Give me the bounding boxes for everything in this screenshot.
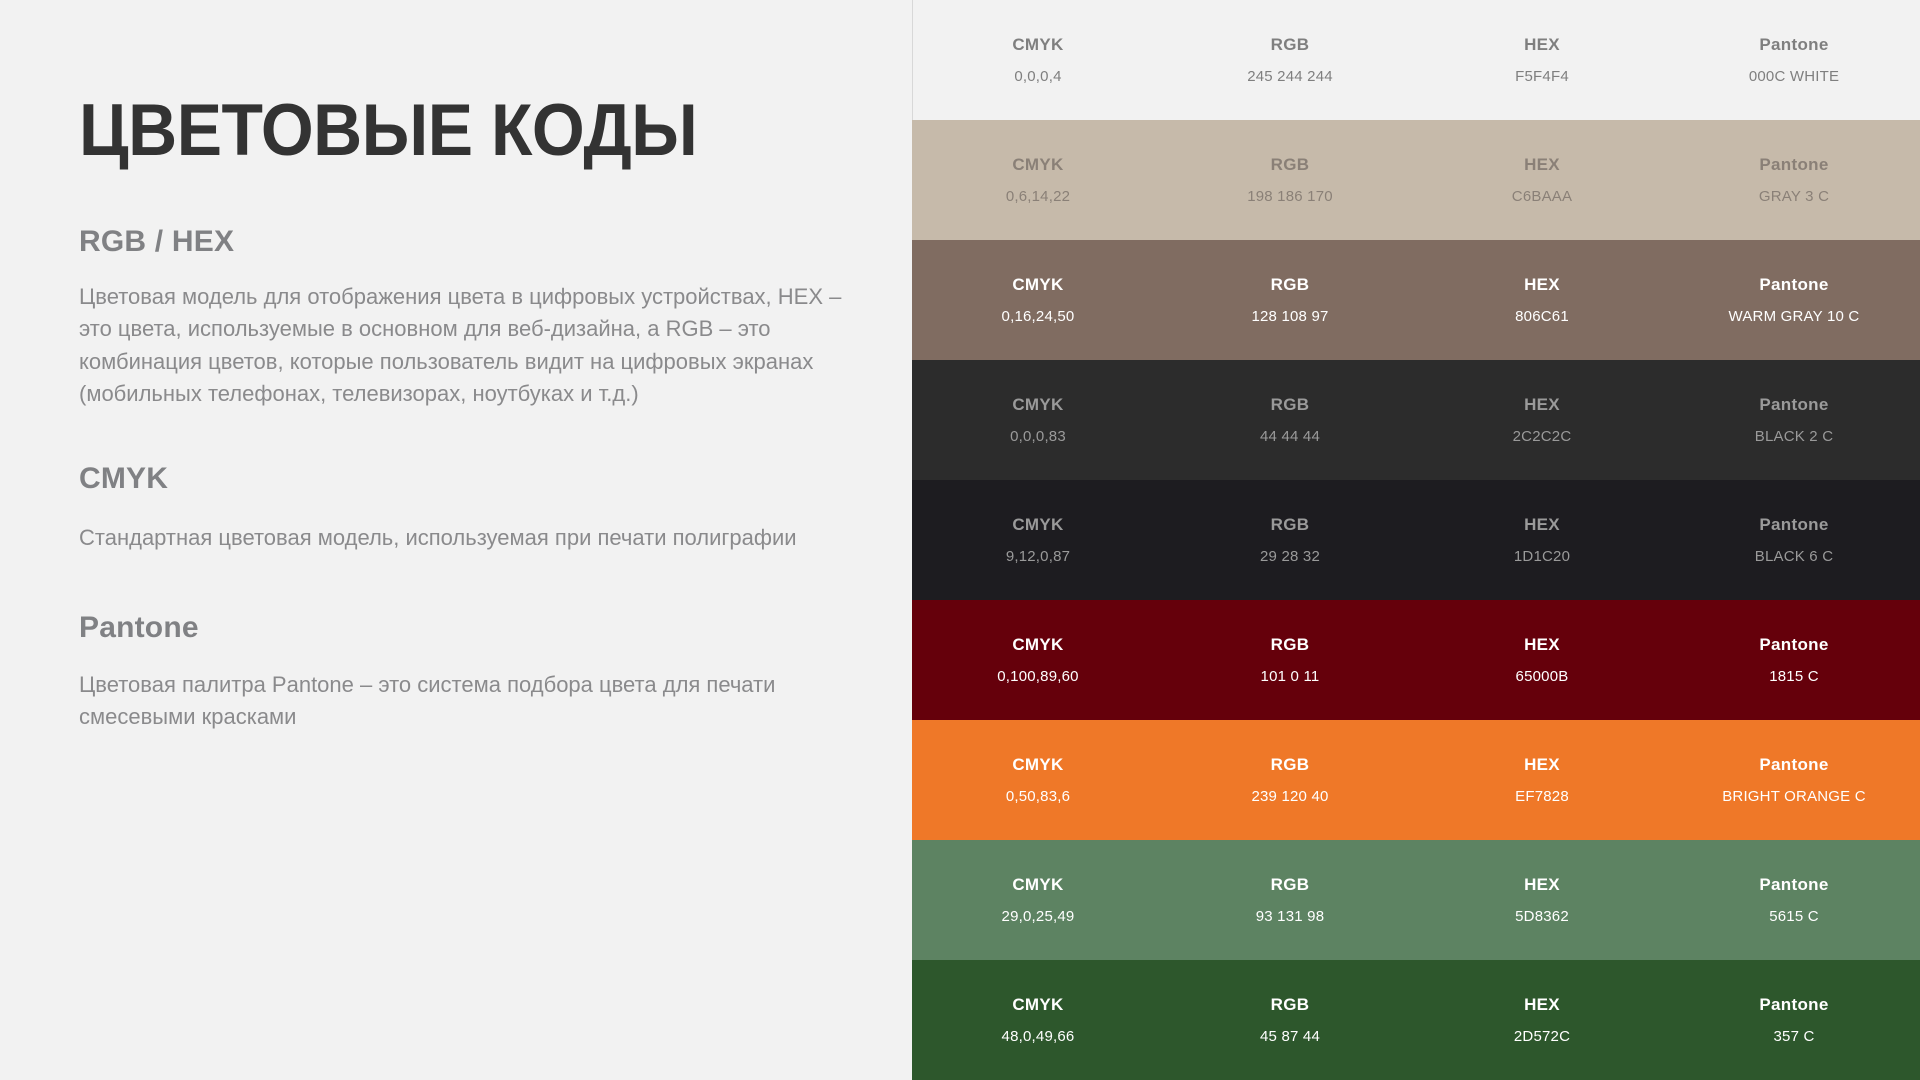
swatch-cell-cmyk: CMYK48,0,49,66: [912, 996, 1164, 1044]
swatch-cell-pantone: PantoneBLACK 2 C: [1668, 396, 1920, 444]
swatch-cell-rgb: RGB245 244 244: [1164, 36, 1416, 84]
section-heading-rgb-hex: RGB / HEX: [79, 225, 912, 259]
swatch-cell-value: 0,100,89,60: [912, 669, 1164, 684]
swatch-cell-value: 2C2C2C: [1416, 429, 1668, 444]
swatch-cell-label: Pantone: [1668, 156, 1920, 173]
swatch-cell-value: 65000B: [1416, 669, 1668, 684]
swatch-cell-cmyk: CMYK0,0,0,83: [912, 396, 1164, 444]
swatch-cell-label: Pantone: [1668, 876, 1920, 893]
swatch-cell-value: 45 87 44: [1164, 1029, 1416, 1044]
swatch-cell-label: HEX: [1416, 636, 1668, 653]
swatch-cell-pantone: PantoneWARM GRAY 10 C: [1668, 276, 1920, 324]
swatch-row: CMYK48,0,49,66RGB45 87 44HEX2D572CPanton…: [912, 960, 1920, 1080]
swatch-cell-value: C6BAAA: [1416, 189, 1668, 204]
swatch-cell-pantone: Pantone357 C: [1668, 996, 1920, 1044]
swatch-cell-pantone: Pantone1815 C: [1668, 636, 1920, 684]
swatch-cell-value: 29 28 32: [1164, 549, 1416, 564]
swatch-cell-label: RGB: [1164, 156, 1416, 173]
swatch-cell-label: CMYK: [912, 636, 1164, 653]
swatch-cell-cmyk: CMYK0,0,0,4: [912, 36, 1164, 84]
swatch-cell-hex: HEX2D572C: [1416, 996, 1668, 1044]
swatch-cell-label: CMYK: [912, 36, 1164, 53]
swatch-cell-value: 48,0,49,66: [912, 1029, 1164, 1044]
swatch-cell-pantone: PantoneBRIGHT ORANGE C: [1668, 756, 1920, 804]
swatch-cell-label: RGB: [1164, 276, 1416, 293]
swatch-row: CMYK0,100,89,60RGB101 0 11HEX65000BPanto…: [912, 600, 1920, 720]
swatch-cell-cmyk: CMYK0,16,24,50: [912, 276, 1164, 324]
swatch-cell-label: HEX: [1416, 756, 1668, 773]
swatch-row: CMYK29,0,25,49RGB93 131 98HEX5D8362Panto…: [912, 840, 1920, 960]
swatch-cell-rgb: RGB44 44 44: [1164, 396, 1416, 444]
swatch-cell-value: 239 120 40: [1164, 789, 1416, 804]
swatch-cell-cmyk: CMYK9,12,0,87: [912, 516, 1164, 564]
swatch-row: CMYK0,16,24,50RGB128 108 97HEX806C61Pant…: [912, 240, 1920, 360]
left-info-panel: ЦВЕТОВЫЕ КОДЫ RGB / HEX Цветовая модель …: [0, 0, 912, 1080]
section-rgb-hex: RGB / HEX Цветовая модель для отображени…: [79, 225, 912, 410]
swatch-cell-label: HEX: [1416, 516, 1668, 533]
swatch-cell-cmyk: CMYK0,50,83,6: [912, 756, 1164, 804]
swatch-row: CMYK0,0,0,4RGB245 244 244HEXF5F4F4Panton…: [912, 0, 1920, 120]
swatch-cell-value: 0,0,0,83: [912, 429, 1164, 444]
swatch-cell-rgb: RGB29 28 32: [1164, 516, 1416, 564]
swatch-cell-label: CMYK: [912, 276, 1164, 293]
swatch-cell-value: 2D572C: [1416, 1029, 1668, 1044]
swatch-cell-label: HEX: [1416, 396, 1668, 413]
swatch-cell-label: Pantone: [1668, 756, 1920, 773]
swatch-cell-value: 1815 C: [1668, 669, 1920, 684]
swatch-cell-value: F5F4F4: [1416, 69, 1668, 84]
swatch-cell-value: 0,6,14,22: [912, 189, 1164, 204]
swatch-cell-value: 245 244 244: [1164, 69, 1416, 84]
swatch-cell-label: RGB: [1164, 636, 1416, 653]
swatch-cell-value: 198 186 170: [1164, 189, 1416, 204]
swatch-cell-value: 128 108 97: [1164, 309, 1416, 324]
swatch-cell-value: EF7828: [1416, 789, 1668, 804]
swatch-cell-label: Pantone: [1668, 276, 1920, 293]
swatch-cell-label: Pantone: [1668, 36, 1920, 53]
swatch-cell-rgb: RGB93 131 98: [1164, 876, 1416, 924]
swatch-cell-label: CMYK: [912, 396, 1164, 413]
swatch-cell-value: 806C61: [1416, 309, 1668, 324]
swatch-cell-value: 5615 C: [1668, 909, 1920, 924]
swatch-cell-label: HEX: [1416, 156, 1668, 173]
swatch-cell-label: HEX: [1416, 996, 1668, 1013]
swatch-cell-hex: HEXEF7828: [1416, 756, 1668, 804]
swatch-cell-label: RGB: [1164, 36, 1416, 53]
swatch-cell-label: CMYK: [912, 756, 1164, 773]
swatch-cell-value: 101 0 11: [1164, 669, 1416, 684]
swatch-cell-hex: HEX806C61: [1416, 276, 1668, 324]
color-codes-page: ЦВЕТОВЫЕ КОДЫ RGB / HEX Цветовая модель …: [0, 0, 1920, 1080]
panel-divider: [912, 0, 913, 120]
swatch-row: CMYK9,12,0,87RGB29 28 32HEX1D1C20Pantone…: [912, 480, 1920, 600]
swatch-cell-label: RGB: [1164, 516, 1416, 533]
swatch-cell-value: GRAY 3 C: [1668, 189, 1920, 204]
swatch-cell-value: 0,50,83,6: [912, 789, 1164, 804]
swatch-cell-value: BLACK 2 C: [1668, 429, 1920, 444]
swatch-cell-label: HEX: [1416, 276, 1668, 293]
swatch-cell-value: 000C WHITE: [1668, 69, 1920, 84]
swatch-cell-hex: HEX65000B: [1416, 636, 1668, 684]
swatch-cell-value: 29,0,25,49: [912, 909, 1164, 924]
swatch-row: CMYK0,0,0,83RGB44 44 44HEX2C2C2CPantoneB…: [912, 360, 1920, 480]
swatch-cell-value: 0,0,0,4: [912, 69, 1164, 84]
swatch-cell-value: BLACK 6 C: [1668, 549, 1920, 564]
swatch-cell-hex: HEX5D8362: [1416, 876, 1668, 924]
section-body-cmyk: Стандартная цветовая модель, используема…: [79, 522, 869, 554]
swatch-row: CMYK0,6,14,22RGB198 186 170HEXC6BAAAPant…: [912, 120, 1920, 240]
swatch-cell-hex: HEX2C2C2C: [1416, 396, 1668, 444]
swatch-cell-label: Pantone: [1668, 636, 1920, 653]
swatch-cell-label: RGB: [1164, 876, 1416, 893]
swatch-cell-label: RGB: [1164, 756, 1416, 773]
swatch-cell-label: Pantone: [1668, 996, 1920, 1013]
swatch-cell-label: CMYK: [912, 156, 1164, 173]
swatch-cell-value: 1D1C20: [1416, 549, 1668, 564]
swatch-cell-value: WARM GRAY 10 C: [1668, 309, 1920, 324]
section-heading-pantone: Pantone: [79, 611, 912, 645]
swatch-cell-hex: HEX1D1C20: [1416, 516, 1668, 564]
swatch-cell-value: 93 131 98: [1164, 909, 1416, 924]
swatch-cell-value: BRIGHT ORANGE C: [1668, 789, 1920, 804]
swatch-cell-label: HEX: [1416, 876, 1668, 893]
swatch-cell-hex: HEXC6BAAA: [1416, 156, 1668, 204]
swatch-cell-cmyk: CMYK0,100,89,60: [912, 636, 1164, 684]
section-cmyk: CMYK Стандартная цветовая модель, исполь…: [79, 462, 912, 554]
page-title: ЦВЕТОВЫЕ КОДЫ: [79, 94, 854, 167]
swatch-cell-pantone: PantoneGRAY 3 C: [1668, 156, 1920, 204]
swatch-cell-label: RGB: [1164, 996, 1416, 1013]
swatch-cell-value: 357 C: [1668, 1029, 1920, 1044]
section-body-rgb-hex: Цветовая модель для отображения цвета в …: [79, 281, 869, 410]
swatch-cell-pantone: Pantone000C WHITE: [1668, 36, 1920, 84]
section-pantone: Pantone Цветовая палитра Pantone – это с…: [79, 611, 912, 734]
swatch-cell-label: RGB: [1164, 396, 1416, 413]
swatch-cell-value: 0,16,24,50: [912, 309, 1164, 324]
swatch-cell-rgb: RGB128 108 97: [1164, 276, 1416, 324]
swatch-cell-value: 5D8362: [1416, 909, 1668, 924]
swatch-cell-rgb: RGB101 0 11: [1164, 636, 1416, 684]
swatch-cell-label: CMYK: [912, 516, 1164, 533]
section-body-pantone: Цветовая палитра Pantone – это система п…: [79, 669, 869, 734]
color-swatch-table: CMYK0,0,0,4RGB245 244 244HEXF5F4F4Panton…: [912, 0, 1920, 1080]
swatch-cell-label: CMYK: [912, 876, 1164, 893]
swatch-cell-label: Pantone: [1668, 396, 1920, 413]
swatch-row: CMYK0,50,83,6RGB239 120 40HEXEF7828Panto…: [912, 720, 1920, 840]
swatch-cell-hex: HEXF5F4F4: [1416, 36, 1668, 84]
swatch-cell-pantone: PantoneBLACK 6 C: [1668, 516, 1920, 564]
swatch-cell-value: 44 44 44: [1164, 429, 1416, 444]
swatch-cell-label: HEX: [1416, 36, 1668, 53]
swatch-cell-rgb: RGB45 87 44: [1164, 996, 1416, 1044]
swatch-cell-cmyk: CMYK0,6,14,22: [912, 156, 1164, 204]
swatch-cell-rgb: RGB239 120 40: [1164, 756, 1416, 804]
swatch-cell-pantone: Pantone5615 C: [1668, 876, 1920, 924]
swatch-cell-rgb: RGB198 186 170: [1164, 156, 1416, 204]
swatch-cell-label: Pantone: [1668, 516, 1920, 533]
swatch-cell-value: 9,12,0,87: [912, 549, 1164, 564]
swatch-cell-label: CMYK: [912, 996, 1164, 1013]
swatch-cell-cmyk: CMYK29,0,25,49: [912, 876, 1164, 924]
section-heading-cmyk: CMYK: [79, 462, 912, 496]
